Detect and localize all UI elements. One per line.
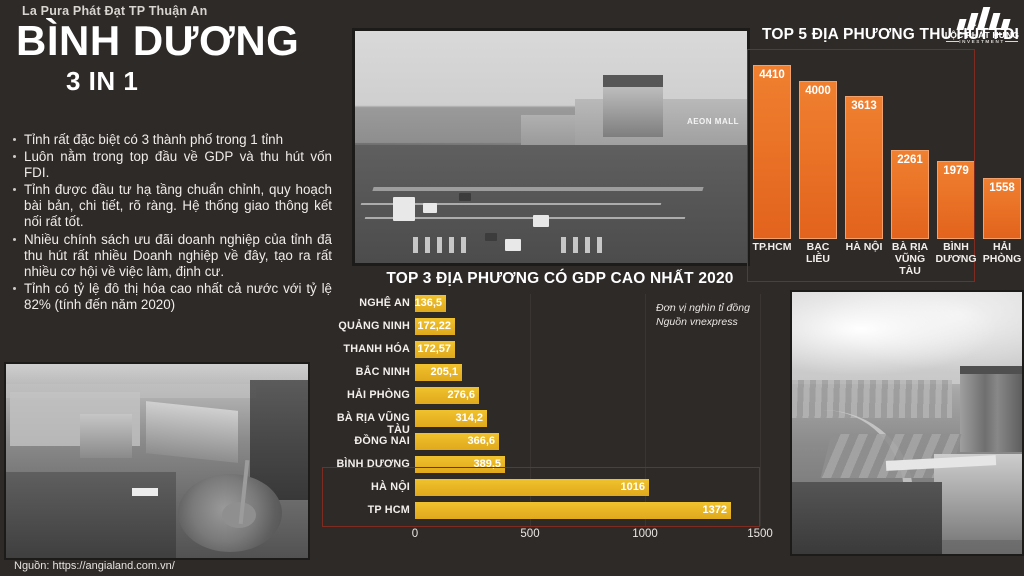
fdi-category-label: BÌNH DƯƠNG bbox=[932, 241, 980, 265]
gdp-category-label: THANH HÓA bbox=[316, 343, 410, 355]
gdp-category-label: NGHỆ AN bbox=[316, 297, 410, 309]
fdi-bar bbox=[753, 65, 791, 239]
gdp-bar-value: 366,6 bbox=[451, 435, 495, 447]
gdp-bar-value: 1016 bbox=[601, 481, 645, 493]
fdi-category-label: BÀ RỊA VŨNG TÀU bbox=[886, 241, 934, 277]
fdi-category-labels: TP.HCMBẠC LIÊUHÀ NỘIBÀ RỊA VŨNG TÀUBÌNH … bbox=[747, 241, 1024, 285]
photo-car bbox=[423, 203, 437, 213]
fdi-bar bbox=[845, 96, 883, 239]
highlight-item: Tỉnh có tỷ lệ đô thị hóa cao nhất cả nướ… bbox=[6, 281, 332, 313]
gdp-bar-value: 389,5 bbox=[457, 458, 501, 470]
fdi-category-label: HÀ NỘI bbox=[840, 241, 888, 253]
fdi-bar-value: 4000 bbox=[799, 85, 837, 97]
gdp-bar-row: HÀ NỘI1016 bbox=[316, 478, 786, 500]
gdp-category-label: HẢI PHÒNG bbox=[316, 389, 410, 401]
photo-bus bbox=[393, 197, 415, 221]
gdp-bar-value: 172,57 bbox=[407, 343, 451, 355]
logo-subtitle: INVESTMENT bbox=[942, 39, 1022, 44]
gdp-category-label: BÌNH DƯƠNG bbox=[316, 458, 410, 470]
highlight-item: Nhiều chính sách ưu đãi doanh nghiệp của… bbox=[6, 232, 332, 280]
photo-city-blocks bbox=[6, 384, 256, 398]
brand-line: La Pura Phát Đạt TP Thuận An bbox=[22, 4, 207, 18]
photo-crosswalk-stripe bbox=[585, 237, 590, 253]
highlights-list: Tỉnh rất đặc biệt có 3 thành phố trong 1… bbox=[6, 132, 332, 314]
fdi-plot-area: 441040003613226119791558 bbox=[747, 49, 1024, 239]
highlight-item: Tỉnh được đầu tư hạ tầng chuẩn chỉnh, qu… bbox=[6, 182, 332, 230]
photo-tower bbox=[960, 370, 1022, 452]
gdp-bar-row: BÀ RỊA VŨNG TÀU314,2 bbox=[316, 409, 786, 431]
fdi-category-label: HẢI PHÒNG bbox=[978, 241, 1024, 265]
fdi-category-label: BẠC LIÊU bbox=[794, 241, 842, 265]
photo-crosswalk-stripe bbox=[561, 237, 566, 253]
page-subtitle: 3 IN 1 bbox=[66, 66, 138, 97]
photo-greenery bbox=[792, 482, 942, 554]
photo-truck bbox=[533, 215, 549, 227]
gdp-x-axis: 050010001500 bbox=[316, 528, 786, 548]
photo-crosswalk-stripe bbox=[425, 237, 430, 253]
gdp-x-tick: 1500 bbox=[747, 528, 773, 540]
gdp-x-tick: 500 bbox=[520, 528, 539, 540]
fdi-bar-group: 1979 bbox=[937, 49, 975, 239]
fdi-bar-value: 1558 bbox=[983, 182, 1021, 194]
company-logo: LỘC PHÁT HƯNG INVESTMENT bbox=[942, 4, 1022, 48]
gdp-category-label: BẮC NINH bbox=[316, 366, 410, 378]
aerial-city-roundabout-photo bbox=[4, 362, 310, 560]
aeon-mall-sign: AEON MALL bbox=[687, 117, 739, 126]
gdp-category-label: TP HCM bbox=[316, 504, 410, 516]
gdp-bar-row: QUẢNG NINH172,22 bbox=[316, 317, 786, 339]
fdi-chart: TOP 5 ĐỊA PHƯƠNG THU HÚT FDI LỘC PHÁT HƯ… bbox=[744, 2, 1024, 284]
gdp-bar-row: TP HCM1372 bbox=[316, 501, 786, 523]
gdp-bar-row: BẮC NINH205,1 bbox=[316, 363, 786, 385]
gdp-bar-row: NGHỆ AN136,5 bbox=[316, 294, 786, 316]
fdi-category-label: TP.HCM bbox=[748, 241, 796, 253]
fdi-bar-group: 2261 bbox=[891, 49, 929, 239]
highlight-item: Luôn nằm trong top đầu về GDP và thu hút… bbox=[6, 149, 332, 181]
photo-crosswalk-stripe bbox=[449, 237, 454, 253]
fdi-bar-value: 2261 bbox=[891, 154, 929, 166]
fdi-bar-group: 1558 bbox=[983, 49, 1021, 239]
source-footer: Nguồn: https://angialand.com.vn/ bbox=[14, 560, 175, 572]
gdp-chart: TOP 3 ĐỊA PHƯƠNG CÓ GDP CAO NHẤT 2020 Đơ… bbox=[316, 266, 786, 562]
highlight-item: Tỉnh rất đặc biệt có 3 thành phố trong 1… bbox=[6, 132, 332, 148]
page-title: BÌNH DƯƠNG bbox=[16, 20, 299, 62]
gdp-x-tick: 1000 bbox=[632, 528, 658, 540]
photo-crosswalk-stripe bbox=[437, 237, 442, 253]
photo-car bbox=[485, 233, 497, 241]
fdi-bar-group: 4410 bbox=[753, 49, 791, 239]
gdp-bar-row: ĐỒNG NAI366,6 bbox=[316, 432, 786, 454]
photo-crosswalk-stripe bbox=[413, 237, 418, 253]
fdi-bar bbox=[799, 81, 837, 239]
gdp-bar-value: 205,1 bbox=[414, 366, 458, 378]
photo-car bbox=[505, 239, 521, 251]
gdp-plot-area: NGHỆ AN136,5QUẢNG NINH172,22THANH HÓA172… bbox=[316, 294, 786, 526]
gdp-bar-row: BÌNH DƯƠNG389,5 bbox=[316, 455, 786, 477]
gdp-bar-value: 276,6 bbox=[431, 389, 475, 401]
photo-building bbox=[80, 414, 132, 458]
photo-car bbox=[459, 193, 471, 201]
fdi-bar-value: 4410 bbox=[753, 69, 791, 81]
gdp-bar-value: 314,2 bbox=[439, 412, 483, 424]
fdi-bar-value: 3613 bbox=[845, 100, 883, 112]
fdi-bar-group: 3613 bbox=[845, 49, 883, 239]
gdp-bar-value: 136,5 bbox=[398, 297, 442, 309]
administrative-center-photo bbox=[790, 290, 1024, 556]
fdi-bar-value: 1979 bbox=[937, 165, 975, 177]
photo-mall-band bbox=[603, 75, 663, 87]
aeon-mall-boulevard-photo: AEON MALL bbox=[352, 28, 750, 266]
infographic-canvas: La Pura Phát Đạt TP Thuận An BÌNH DƯƠNG … bbox=[0, 0, 1024, 576]
photo-crosswalk-stripe bbox=[573, 237, 578, 253]
photo-crosswalk-stripe bbox=[597, 237, 602, 253]
photo-tower-roof bbox=[960, 366, 1022, 374]
gdp-bar-value: 172,22 bbox=[407, 320, 451, 332]
gdp-x-tick: 0 bbox=[412, 528, 418, 540]
fdi-bar-group: 4000 bbox=[799, 49, 837, 239]
photo-bus bbox=[132, 488, 158, 496]
photo-building bbox=[146, 401, 238, 463]
gdp-bar-value: 1372 bbox=[683, 504, 727, 516]
photo-crosswalk-stripe bbox=[461, 237, 466, 253]
photo-park bbox=[6, 472, 176, 558]
gdp-chart-title: TOP 3 ĐỊA PHƯƠNG CÓ GDP CAO NHẤT 2020 bbox=[350, 270, 770, 288]
gdp-bar-row: HẢI PHÒNG276,6 bbox=[316, 386, 786, 408]
photo-median bbox=[372, 187, 703, 191]
gdp-bar-row: THANH HÓA172,57 bbox=[316, 340, 786, 362]
gdp-category-label: HÀ NỘI bbox=[316, 481, 410, 493]
logo-bars-icon bbox=[958, 6, 1010, 30]
gdp-category-label: ĐỒNG NAI bbox=[316, 435, 410, 447]
gdp-category-label: QUẢNG NINH bbox=[316, 320, 410, 332]
